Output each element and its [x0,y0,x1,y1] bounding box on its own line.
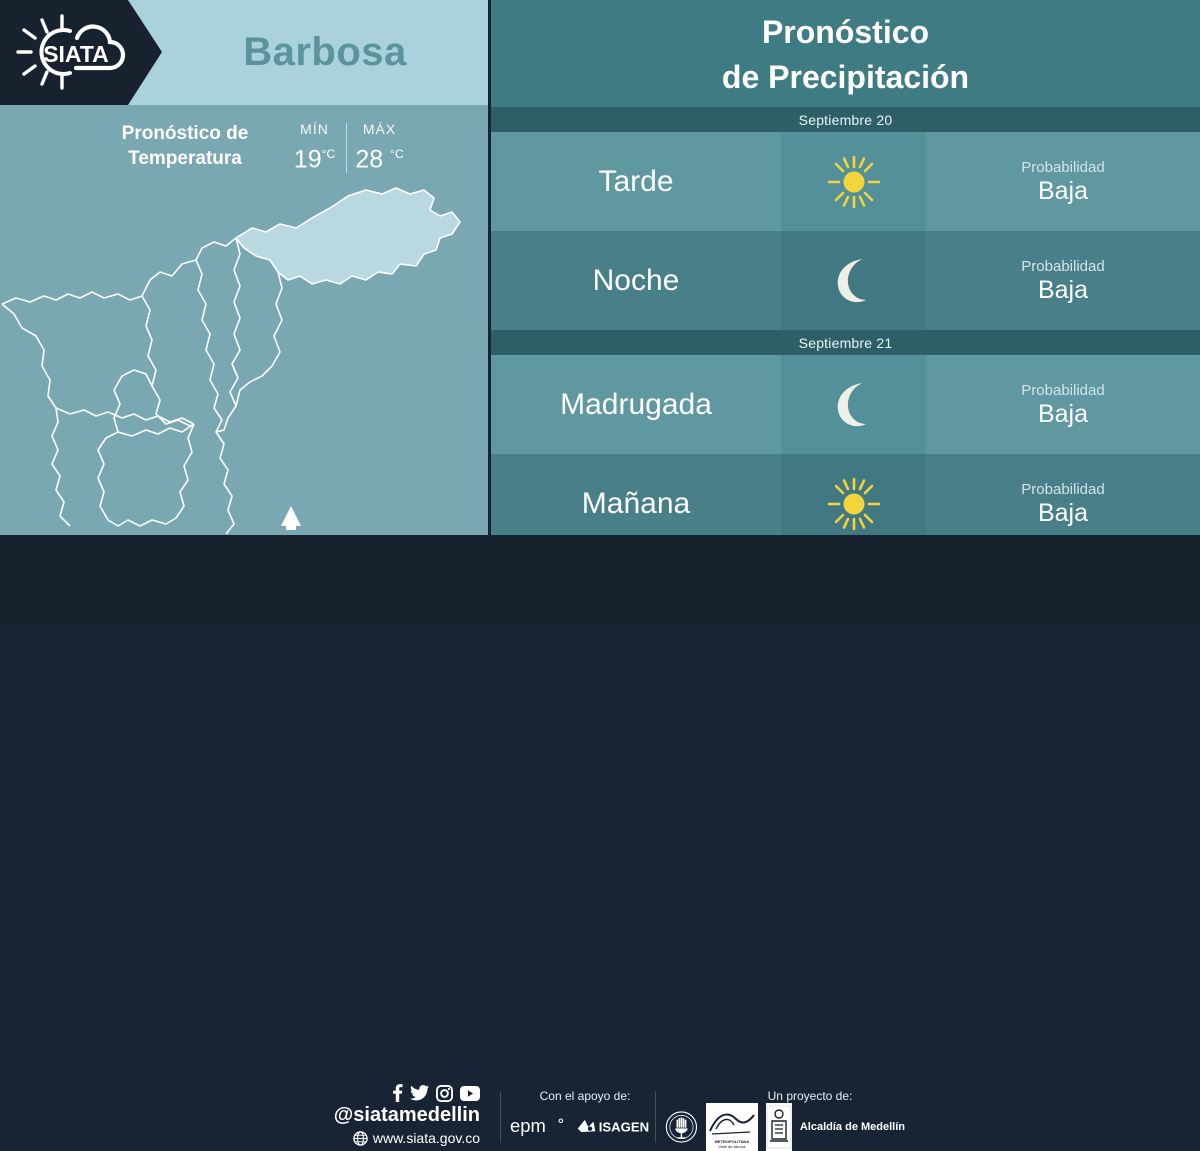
map-region-barbosa-highlight [236,188,460,284]
max-value: 28 [355,145,383,173]
forecast-period: Madrugada [491,355,781,454]
instagram-icon[interactable] [436,1085,453,1102]
forecast-weather-icon [781,231,926,330]
social-icons [330,1083,480,1103]
forecast-probability: ProbabilidadBaja [926,132,1200,231]
area-metropolitana-logo: METROPOLITANA Valle de Aburrá [706,1103,758,1151]
temperature-title-line1: Pronóstico de [122,123,249,144]
temperature-title-line2: Temperatura [128,148,242,169]
website-url: www.siata.gov.co [373,1128,480,1148]
municipality-map: N N [0,180,488,535]
forecast-period: Noche [491,231,781,330]
footer-divider-2 [655,1091,656,1143]
udea-seal-icon [665,1103,698,1151]
map-region-g [108,424,194,526]
map-svg: N [0,180,488,535]
forecast-weather-icon [781,132,926,231]
probability-value: Baja [1038,499,1088,528]
map-region-c [142,296,194,426]
project-logos: METROPOLITANA Valle de Aburrá Alcaldía d… [665,1103,905,1151]
map-region-k [52,408,70,526]
globe-icon [353,1131,368,1146]
max-unit: °C [390,147,403,161]
svg-text:epm: epm [510,1115,546,1136]
support-block: Con el apoyo de: epm ISAGEN [510,1087,660,1137]
social-block: @siatamedellin www.siata.gov.co [330,1083,480,1148]
map-region-b [2,304,194,424]
forecast-row: TardeProbabilidadBaja [491,132,1200,231]
map-region-f [236,272,282,406]
max-value-group: 28 °C [347,139,412,174]
forecast-title-line2: de Precipitación [722,59,969,95]
footer: @siatamedellin www.siata.gov.co Con el a… [0,535,1200,630]
probability-value: Baja [1038,276,1088,305]
forecast-title-line1: Pronóstico [762,14,929,50]
siata-logo-banner: SIATA [0,0,162,105]
min-max-temperatures: MÍN 19°C MÁX 28 °C [282,119,412,177]
area-wordmark-icon [706,1105,758,1139]
city-title: Barbosa [162,0,488,105]
sun-cloud-icon: SIATA [14,12,132,92]
youtube-icon[interactable] [460,1086,480,1101]
forecast-probability: ProbabilidadBaja [926,355,1200,454]
forecast-row: NocheProbabilidadBaja [491,231,1200,330]
map-region-j [114,370,152,432]
max-temperature: MÁX 28 °C [347,119,412,177]
precipitation-panel: Pronóstico de Precipitación Septiembre 2… [491,0,1200,535]
twitter-icon[interactable] [410,1084,429,1102]
forecast-period: Tarde [491,132,781,231]
header-band: SIATA Barbosa [0,0,488,105]
area-label-2: Valle de Aburrá [718,1144,745,1149]
min-value-group: 19°C [282,139,347,174]
map-region-d [196,260,228,484]
social-handle[interactable]: @siatamedellin [330,1103,480,1128]
isagen-logo: ISAGEN [576,1116,660,1136]
weather-infographic: SIATA Barbosa Pronóstico de Temperatura … [0,0,1200,630]
probability-value: Baja [1038,177,1088,206]
probability-value: Baja [1038,400,1088,429]
max-label: MÁX [347,119,412,139]
probability-label: Probabilidad [1021,381,1104,400]
forecast-date-band: Septiembre 20 [491,107,1200,132]
forecast-title: Pronóstico de Precipitación [491,10,1200,100]
forecast-row: MadrugadaProbabilidadBaja [491,355,1200,454]
moon-icon [830,255,878,307]
temperature-block: Pronóstico de Temperatura MÍN 19°C MÁX 2… [0,105,488,185]
forecast-weather-icon [781,355,926,454]
min-value: 19 [294,145,322,173]
probability-label: Probabilidad [1021,257,1104,276]
alcaldia-crest-icon [766,1103,792,1151]
website-row[interactable]: www.siata.gov.co [330,1128,480,1148]
facebook-icon[interactable] [392,1084,403,1102]
moon-icon [830,379,878,431]
min-label: MÍN [282,119,347,139]
alcaldia-label: Alcaldía de Medellín [800,1121,905,1133]
temperature-title: Pronóstico de Temperatura [90,121,280,171]
support-caption: Con el apoyo de: [510,1087,660,1105]
forecast-date-band: Septiembre 21 [491,330,1200,355]
epm-logo: epm [510,1115,568,1137]
probability-label: Probabilidad [1021,158,1104,177]
compass-icon [281,506,301,530]
left-panel: SIATA Barbosa Pronóstico de Temperatura … [0,0,488,535]
min-temperature: MÍN 19°C [282,119,347,177]
sun-icon [827,155,881,209]
map-region-h [224,484,234,534]
map-region-i [98,424,194,520]
footer-divider-1 [500,1091,501,1143]
sun-icon [827,477,881,531]
forecast-probability: ProbabilidadBaja [926,231,1200,330]
svg-text:ISAGEN: ISAGEN [599,1119,649,1134]
support-logos: epm ISAGEN [510,1115,660,1137]
siata-logo-text: SIATA [43,41,109,67]
probability-label: Probabilidad [1021,480,1104,499]
min-unit: °C [322,147,335,161]
forecast-rows: Septiembre 20TardeProbabilidadBajaNocheP… [491,107,1200,553]
